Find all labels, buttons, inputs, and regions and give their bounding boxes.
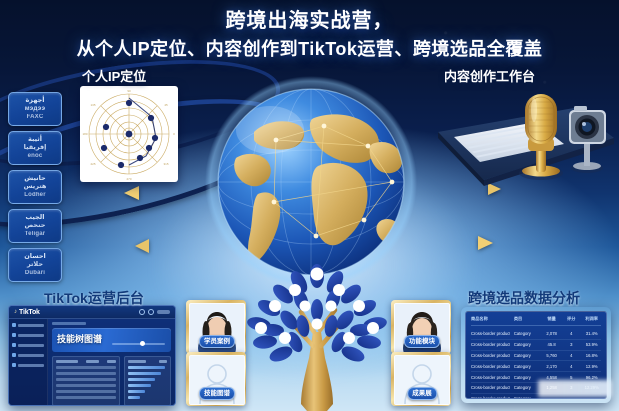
chip-line-1: أثيبة <box>28 136 42 144</box>
card-header <box>56 360 116 363</box>
poster-canvas: 跨境出海实战营， 从个人IP定位、内容创作到TikTok运营、跨境选品全覆盖 أ… <box>0 0 619 411</box>
chip-line-1: حانيش <box>24 175 45 183</box>
list-item <box>56 378 116 381</box>
cell-category: Category <box>514 364 539 369</box>
side-chip: الجيب حنحص Teligar <box>8 209 62 243</box>
chip-line-1: أجهزة <box>25 97 44 105</box>
column-header: 类目 <box>514 316 539 322</box>
table-header-row: 商品名称 类目 销量 评分 利润率 <box>471 316 601 326</box>
cell-sales: 5,760 <box>543 353 560 358</box>
table-blur-overlay <box>538 380 612 397</box>
cell-category: Category <box>514 375 539 380</box>
cell-margin: 96.2% <box>582 375 601 380</box>
cell-name: Cross-border product item G <box>471 396 510 399</box>
sidebar-item[interactable] <box>12 333 44 337</box>
cell-margin: 31.4% <box>582 331 601 336</box>
side-chip-list: أجهزة мэдээ FAXC أثيبة إفريقيا enoc حاني… <box>8 92 64 287</box>
side-chip: احسان حلاتر Dubari <box>8 248 62 282</box>
cell-rating: 4 <box>564 331 578 336</box>
sidebar-item[interactable] <box>12 323 44 327</box>
svg-text:0: 0 <box>173 132 175 136</box>
cell-category: Category <box>514 396 539 399</box>
side-chip: أجهزة мэдээ FAXC <box>8 92 62 126</box>
column-header: 商品名称 <box>471 316 510 322</box>
chip-line-3: Teligar <box>25 230 46 238</box>
side-chip: أثيبة إفريقيا enoc <box>8 131 62 165</box>
title-line-2: 从个人IP定位、内容创作到TikTok运营、跨境选品全覆盖 <box>0 36 619 62</box>
chip-line-1: احسان <box>24 253 46 261</box>
dashboard-main: 技能树图谱 <box>48 319 175 406</box>
list-item <box>56 372 116 375</box>
cell-name: Cross-border product item F <box>471 385 510 390</box>
progress-slider[interactable] <box>112 343 165 345</box>
cell-rating: 4 <box>564 364 578 369</box>
cell-sales: 2,170 <box>543 364 560 369</box>
avatar-frame: 成果展 <box>394 355 450 405</box>
cell-margin: 16.8% <box>582 353 601 358</box>
svg-text:135: 135 <box>90 103 95 107</box>
music-note-icon: ♪ <box>14 309 17 315</box>
orbit-arrow-icon <box>124 186 139 200</box>
column-header: 利润率 <box>582 316 601 322</box>
hero-banner: 技能树图谱 <box>52 328 171 352</box>
table-row: Cross-border product item C Category 5,7… <box>471 351 601 362</box>
cell-rating: 4 <box>564 353 578 358</box>
cell-sales: 4,558 <box>543 375 560 380</box>
cell-name: Cross-border product item B <box>471 342 510 347</box>
search-icon[interactable] <box>139 309 145 315</box>
account-menu[interactable] <box>157 310 170 314</box>
avatar-frame: 学员案例 <box>189 303 245 353</box>
chip-line-3: Dubari <box>25 269 45 277</box>
cell-name: Cross-border product item C <box>471 353 510 358</box>
cell-sales: 2,078 <box>543 331 560 336</box>
cell-name: Cross-border product item E <box>471 375 510 380</box>
list-item <box>56 390 116 393</box>
cell-rating: 3 <box>564 342 578 347</box>
avatar-card-label: 学员案例 <box>199 335 235 348</box>
cell-margin: 53.9% <box>582 342 601 347</box>
chip-line-3: Lodher <box>24 191 46 199</box>
tiktok-logo[interactable]: ♪ TikTok <box>14 309 40 316</box>
sidebar-item[interactable] <box>12 363 44 367</box>
bar-chart-card <box>124 356 171 406</box>
svg-text:225: 225 <box>90 162 95 166</box>
sidebar-item[interactable] <box>12 343 44 347</box>
chip-line-2: حنحص <box>25 222 46 230</box>
svg-text:315: 315 <box>163 162 168 166</box>
avatar-card-label: 成果展 <box>407 387 437 400</box>
section-caption-ip: 个人IP定位 <box>82 66 146 85</box>
list-card <box>52 356 120 406</box>
avatar-card-skill-map[interactable]: 技能图谱 <box>186 352 246 406</box>
card-header <box>128 360 167 363</box>
title-line-1: 跨境出海实战营， <box>0 8 619 34</box>
orbit-arrow-icon <box>478 236 493 250</box>
cell-category: Category <box>514 385 539 390</box>
gear-icon[interactable] <box>148 309 154 315</box>
chip-line-3: enoc <box>28 152 43 160</box>
avatar-card-label: 技能图谱 <box>199 387 235 400</box>
avatar-frame: 功能模块 <box>394 303 450 353</box>
chip-line-1: الجيب <box>26 214 45 222</box>
section-caption-studio: 内容创作工作台 <box>444 66 535 85</box>
chip-line-2: حلاتر <box>27 261 43 269</box>
tiktok-dashboard-mock[interactable]: ♪ TikTok 技能树图谱 <box>8 305 176 406</box>
dashboard-body: 技能树图谱 <box>9 319 175 406</box>
radar-chart-card: 90450 315270225 180135 <box>80 86 178 182</box>
sidebar-item[interactable] <box>12 353 44 357</box>
avatar-frame: 技能图谱 <box>189 355 245 405</box>
table-row: Cross-border product item B Category 45.… <box>471 340 601 351</box>
list-item <box>56 396 116 399</box>
section-caption-data: 跨境选品数据分析 <box>468 288 580 308</box>
cell-name: Cross-border product item D <box>471 364 510 369</box>
list-item <box>56 384 116 387</box>
chip-line-3: FAXC <box>27 113 44 121</box>
camera-icon <box>569 106 606 173</box>
side-chip: حانيش هتريس Lodher <box>8 170 62 204</box>
dashboard-sidebar <box>9 319 48 406</box>
section-caption-tiktok: TikTok运营后台 <box>44 288 144 308</box>
cell-category: Category <box>514 342 539 347</box>
slider-knob[interactable] <box>140 341 145 346</box>
cell-sales: 45.8 <box>543 342 560 347</box>
list-item <box>56 366 116 369</box>
page-title: 跨境出海实战营， 从个人IP定位、内容创作到TikTok运营、跨境选品全覆盖 <box>0 8 619 62</box>
svg-text:270: 270 <box>126 177 131 181</box>
tiktok-brand-label: TikTok <box>19 309 40 316</box>
orbit-arrow-icon <box>135 239 149 253</box>
cell-name: Cross-border product item A <box>471 331 510 336</box>
column-header: 销量 <box>543 316 560 322</box>
svg-text:45: 45 <box>164 103 168 107</box>
avatar-card-label: 功能模块 <box>404 335 440 348</box>
skill-tree-illustration <box>243 262 391 411</box>
table-row: Cross-border product item A Category 2,0… <box>471 329 601 340</box>
svg-text:180: 180 <box>82 132 87 136</box>
dashboard-cards <box>52 356 171 406</box>
topbar-actions <box>139 309 170 315</box>
avatar-card-achievements[interactable]: 成果展 <box>391 352 451 406</box>
cell-category: Category <box>514 353 539 358</box>
column-header: 评分 <box>564 316 578 322</box>
table-row: Cross-border product item D Category 2,1… <box>471 361 601 372</box>
cell-category: Category <box>514 331 539 336</box>
svg-text:90: 90 <box>127 89 131 93</box>
cell-rating: 5 <box>564 375 578 380</box>
avatar-card-student-case[interactable]: 学员案例 <box>186 300 246 354</box>
content-studio-illustration <box>424 80 619 192</box>
chip-line-2: إفريقيا <box>24 144 47 152</box>
cell-margin: 12.9% <box>582 364 601 369</box>
avatar-card-feature-module[interactable]: 功能模块 <box>391 300 451 354</box>
chip-line-2: мэдээ <box>25 105 46 113</box>
breadcrumb <box>52 322 86 325</box>
polar-chart: 90450 315270225 180135 <box>80 86 178 182</box>
chip-line-2: هتريس <box>24 183 47 191</box>
